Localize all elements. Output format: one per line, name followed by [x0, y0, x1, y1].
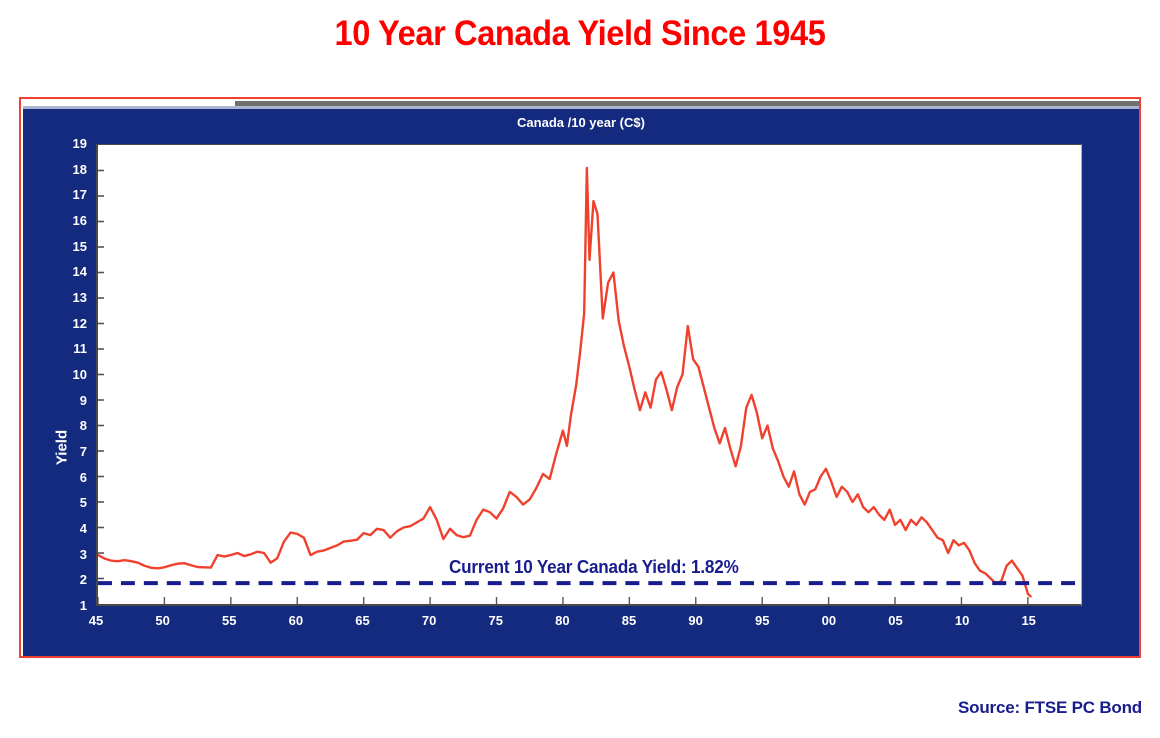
- y-tick-label: 5: [61, 496, 87, 509]
- y-tick-label: 16: [61, 214, 87, 227]
- y-tick-label: 4: [61, 522, 87, 535]
- chart-object-inner: Canada /10 year (C$) Yield 1234567891011…: [23, 101, 1139, 656]
- page-title: 10 Year Canada Yield Since 1945: [41, 14, 1120, 54]
- x-tick-label: 15: [1014, 614, 1044, 627]
- y-tick-label: 3: [61, 548, 87, 561]
- y-tick-label: 10: [61, 368, 87, 381]
- chart-object-frame: Canada /10 year (C$) Yield 1234567891011…: [19, 97, 1141, 658]
- x-tick-label: 05: [880, 614, 910, 627]
- x-tick-label: 60: [281, 614, 311, 627]
- plot-svg: [98, 145, 1081, 604]
- y-tick-label: 18: [61, 163, 87, 176]
- plot-area: [96, 144, 1082, 606]
- y-tick-label: 15: [61, 240, 87, 253]
- x-tick-label: 85: [614, 614, 644, 627]
- y-tick-label: 14: [61, 265, 87, 278]
- y-tick-label: 19: [61, 137, 87, 150]
- yield-series-line: [98, 168, 1031, 596]
- y-tick-label: 8: [61, 419, 87, 432]
- y-tick-label: 17: [61, 188, 87, 201]
- x-tick-marks-group: [98, 597, 1028, 604]
- x-tick-label: 70: [414, 614, 444, 627]
- y-tick-label: 6: [61, 471, 87, 484]
- y-tick-label: 11: [61, 342, 87, 355]
- x-tick-label: 55: [214, 614, 244, 627]
- x-tick-label: 45: [81, 614, 111, 627]
- y-tick-label: 12: [61, 317, 87, 330]
- x-tick-label: 00: [814, 614, 844, 627]
- y-tick-label: 1: [61, 599, 87, 612]
- y-tick-label: 2: [61, 573, 87, 586]
- current-yield-annotation: Current 10 Year Canada Yield: 1.82%: [449, 557, 739, 578]
- y-tick-label: 9: [61, 394, 87, 407]
- source-note: Source: FTSE PC Bond: [958, 698, 1142, 718]
- chart-panel: Canada /10 year (C$) Yield 1234567891011…: [23, 109, 1139, 656]
- x-tick-label: 95: [747, 614, 777, 627]
- y-tick-label: 7: [61, 445, 87, 458]
- x-tick-label: 10: [947, 614, 977, 627]
- y-tick-marks-group: [98, 171, 104, 579]
- x-tick-label: 75: [481, 614, 511, 627]
- x-tick-label: 90: [681, 614, 711, 627]
- x-tick-label: 65: [347, 614, 377, 627]
- x-tick-label: 50: [148, 614, 178, 627]
- y-tick-label: 13: [61, 291, 87, 304]
- x-tick-label: 80: [547, 614, 577, 627]
- chart-header-title: Canada /10 year (C$): [23, 115, 1139, 130]
